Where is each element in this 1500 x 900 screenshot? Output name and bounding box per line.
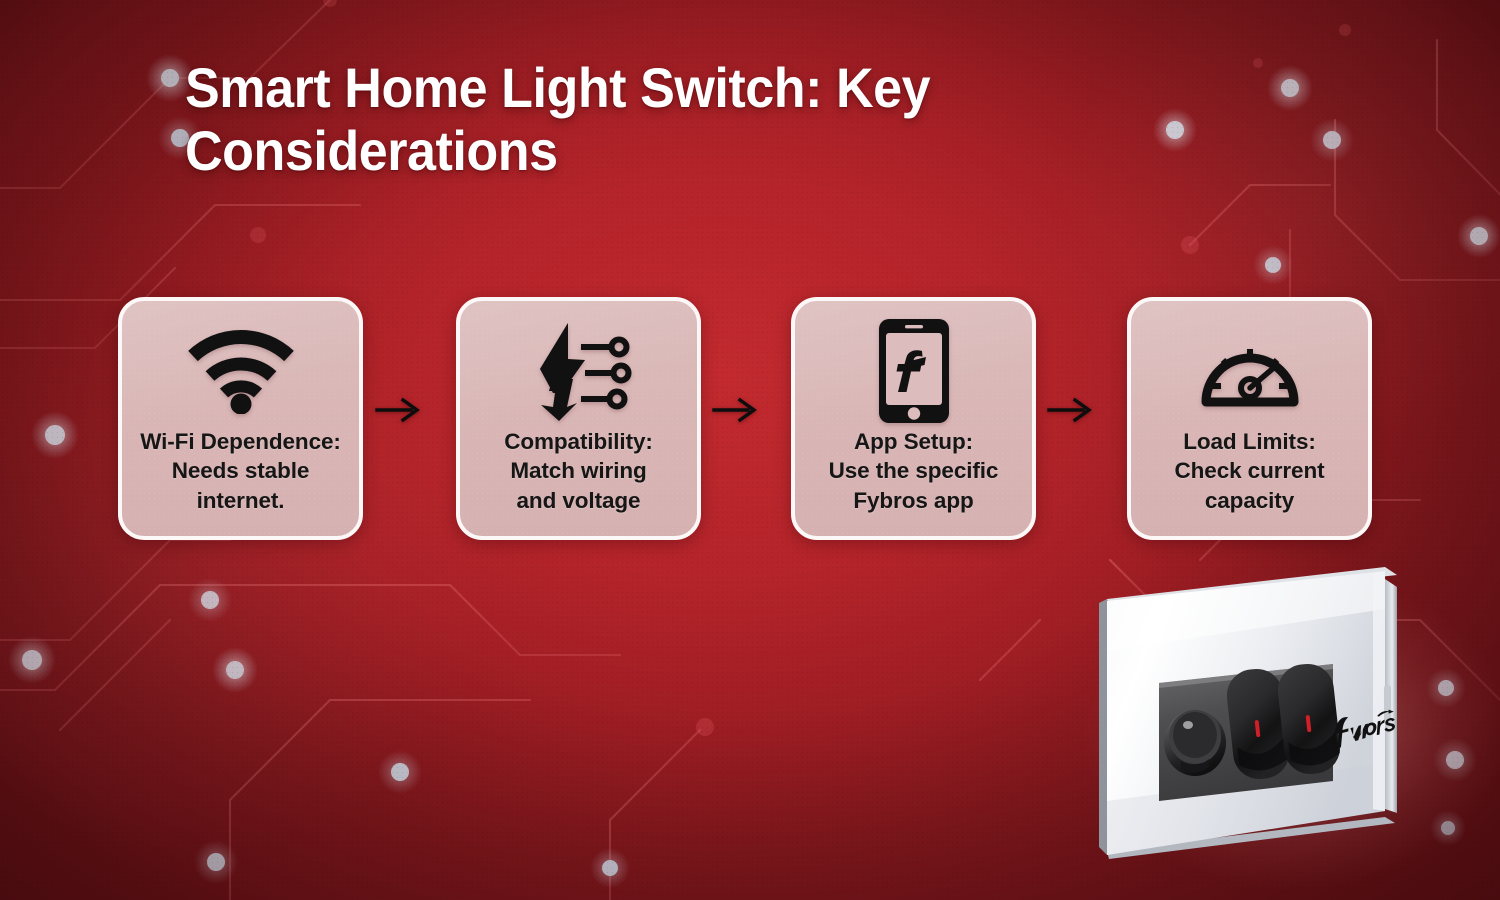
card-label: Compatibility: Match wiring and voltage bbox=[496, 427, 661, 515]
smart-switch-plate bbox=[1085, 565, 1500, 900]
card-label: Wi-Fi Dependence: Needs stable internet. bbox=[132, 427, 349, 515]
dimmer-knob bbox=[1164, 710, 1226, 776]
arrow-right-icon bbox=[1040, 393, 1102, 427]
card-app-setup[interactable]: App Setup: Use the specific Fybros app bbox=[791, 297, 1036, 540]
card-label: Load Limits: Check current capacity bbox=[1166, 427, 1332, 515]
card-label: App Setup: Use the specific Fybros app bbox=[821, 427, 1007, 515]
considerations-row: Wi-Fi Dependence: Needs stable internet. bbox=[0, 297, 1500, 545]
infographic-canvas: Smart Home Light Switch: Key Considerati… bbox=[0, 0, 1500, 900]
smartphone-app-icon bbox=[795, 315, 1032, 427]
gauge-icon bbox=[1131, 315, 1368, 427]
card-compatibility[interactable]: Compatibility: Match wiring and voltage bbox=[456, 297, 701, 540]
card-wifi-dependence[interactable]: Wi-Fi Dependence: Needs stable internet. bbox=[118, 297, 363, 540]
arrow-right-icon bbox=[705, 393, 767, 427]
wifi-icon bbox=[122, 315, 359, 427]
card-load-limits[interactable]: Load Limits: Check current capacity bbox=[1127, 297, 1372, 540]
page-title: Smart Home Light Switch: Key Considerati… bbox=[185, 56, 1227, 183]
arrow-right-icon bbox=[368, 393, 430, 427]
lightning-circuit-icon bbox=[460, 315, 697, 427]
